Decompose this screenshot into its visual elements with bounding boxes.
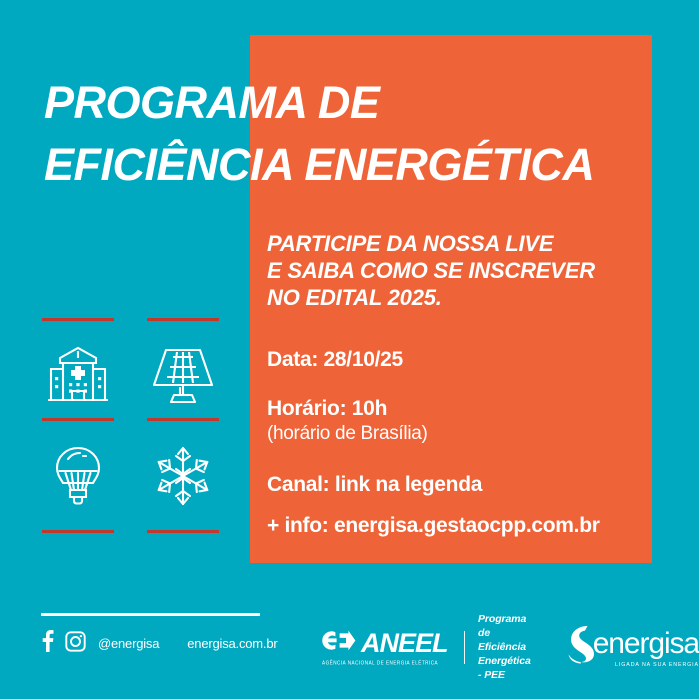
energisa-wordmark: energisa xyxy=(593,629,699,659)
event-date: Data: 28/10/25 xyxy=(267,348,652,372)
solar-panel-icon xyxy=(145,333,220,418)
light-bulb-icon xyxy=(40,433,115,518)
rule-cell xyxy=(145,318,220,321)
icon-cell-hospital xyxy=(40,333,115,418)
aneel-mark-icon xyxy=(322,630,356,656)
icon-cell-light-bulb xyxy=(40,433,115,518)
event-subheading: PARTICIPE DA NOSSA LIVE E SAIBA COMO SE … xyxy=(267,230,647,311)
footer-divider xyxy=(41,613,260,616)
instagram-icon[interactable] xyxy=(65,631,86,657)
program-name: Programa de Eficiência Energética - PEE xyxy=(478,612,534,682)
event-timezone-note: (horário de Brasília) xyxy=(267,423,652,445)
icon-row-first xyxy=(40,333,220,418)
event-details: Data: 28/10/25 Horário: 10h (horário de … xyxy=(267,348,652,538)
divider-rule xyxy=(42,418,114,421)
divider-rule xyxy=(42,530,114,533)
facebook-icon[interactable] xyxy=(41,630,54,657)
icon-rule-row-middle xyxy=(40,418,220,421)
rule-cell xyxy=(40,318,115,321)
event-channel: Canal: link na legenda xyxy=(267,473,652,497)
icon-row-second xyxy=(40,433,220,518)
divider-rule xyxy=(147,530,219,533)
rule-cell xyxy=(40,418,115,421)
social-footer: @energisa energisa.com.br xyxy=(41,630,277,657)
icon-cell-solar-panel xyxy=(145,333,220,418)
aneel-subtitle: AGÊNCIA NACIONAL DE ENERGIA ELÉTRICA xyxy=(322,660,438,666)
icon-cell-snowflake xyxy=(145,433,220,518)
aneel-wordmark: ANEEL xyxy=(361,630,448,657)
aneel-logo-top: ANEEL xyxy=(322,630,448,657)
energisa-text-block: energisa LIGADA NA SUA ENERGIA xyxy=(593,625,699,668)
benefit-icon-grid xyxy=(40,318,220,533)
energisa-logo: energisa LIGADA NA SUA ENERGIA xyxy=(568,625,699,669)
page-title: PROGRAMA DE EFICIÊNCIA ENERGÉTICA xyxy=(44,72,664,196)
website-url[interactable]: energisa.com.br xyxy=(187,636,277,651)
divider-rule xyxy=(42,318,114,321)
hospital-icon xyxy=(40,333,115,418)
aneel-logo: ANEEL AGÊNCIA NACIONAL DE ENERGIA ELÉTRI… xyxy=(322,630,448,665)
icon-rule-row-bottom xyxy=(40,530,220,533)
social-handle[interactable]: @energisa xyxy=(98,636,159,651)
campaign-poster: PROGRAMA DE EFICIÊNCIA ENERGÉTICA PARTIC… xyxy=(0,0,699,699)
partner-logos: ANEEL AGÊNCIA NACIONAL DE ENERGIA ELÉTRI… xyxy=(322,612,699,682)
event-more-info: + info: energisa.gestaocpp.com.br xyxy=(267,514,652,538)
rule-cell xyxy=(145,530,220,533)
energisa-tagline: LIGADA NA SUA ENERGIA xyxy=(593,662,699,668)
rule-cell xyxy=(40,530,115,533)
snowflake-icon xyxy=(145,433,220,518)
icon-rule-row-top xyxy=(40,318,220,321)
rule-cell xyxy=(145,418,220,421)
divider-rule xyxy=(147,318,219,321)
event-time: Horário: 10h xyxy=(267,397,652,421)
divider-rule xyxy=(147,418,219,421)
energisa-mark-icon xyxy=(568,625,595,669)
